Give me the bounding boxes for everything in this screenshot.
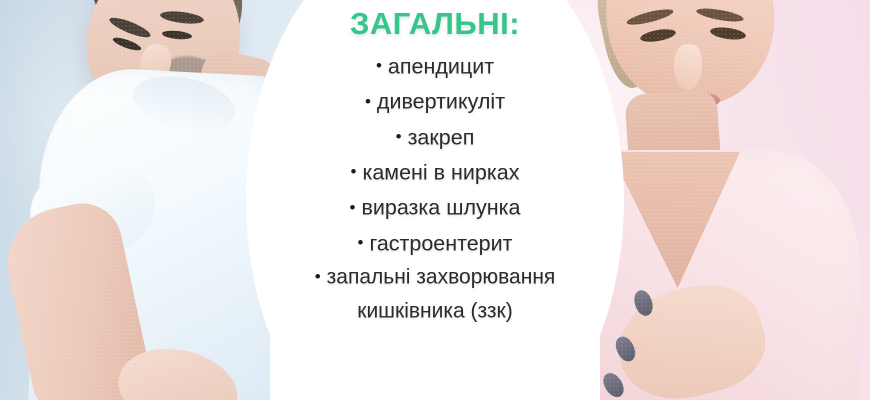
list-item-label: закреп xyxy=(408,125,475,149)
bullet-icon: • xyxy=(350,198,356,217)
bullet-icon: • xyxy=(376,56,382,75)
list-item: •гастроентерит xyxy=(265,225,605,260)
symptoms-list: •апендицит •дивертикуліт •закреп •камені… xyxy=(265,48,605,329)
bullet-icon: • xyxy=(351,162,357,181)
page-title: ЗАГАЛЬНІ: xyxy=(265,0,605,42)
symptoms-infographic: ЗАГАЛЬНІ: •апендицит •дивертикуліт •закр… xyxy=(0,0,870,400)
bullet-icon: • xyxy=(365,92,371,111)
bullet-icon: • xyxy=(358,233,364,252)
list-item: •закреп xyxy=(265,119,605,154)
list-item-label: апендицит xyxy=(388,54,494,78)
bullet-icon: • xyxy=(315,267,321,286)
list-item: •камені в нирках xyxy=(265,154,605,189)
list-item-label: гастроентерит xyxy=(369,231,512,255)
list-item: •апендицит xyxy=(265,48,605,83)
list-item-label: виразка шлунка xyxy=(361,196,520,220)
list-item: •виразка шлунка xyxy=(265,189,605,224)
list-item: •запальні захворювання кишківника (ззк) xyxy=(265,260,605,329)
bullet-icon: • xyxy=(396,127,402,146)
symptoms-content: ЗАГАЛЬНІ: •апендицит •дивертикуліт •закр… xyxy=(265,0,605,329)
list-item: •дивертикуліт xyxy=(265,83,605,118)
list-item-label: запальні захворювання кишківника (ззк) xyxy=(327,265,556,322)
list-item-label: камені в нирках xyxy=(362,160,519,184)
list-item-label: дивертикуліт xyxy=(377,90,505,114)
